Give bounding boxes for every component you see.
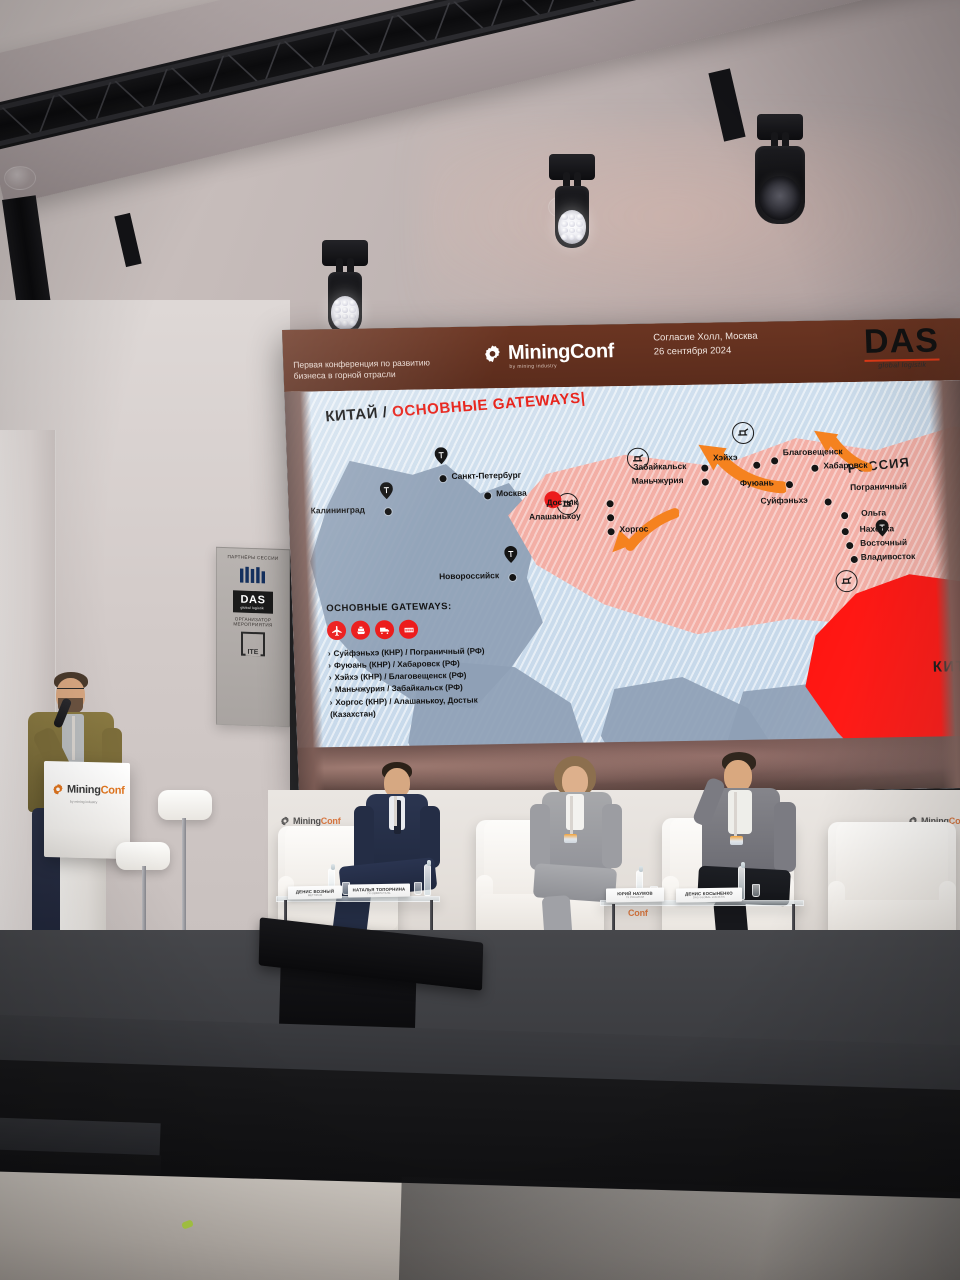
tshirt xyxy=(728,790,752,834)
das-logo-word: DAS xyxy=(240,593,265,606)
nameplate-role: ГК СЕВЕРСТАЛЬ xyxy=(368,891,391,894)
truck-icon xyxy=(375,620,395,639)
gear-icon xyxy=(483,344,503,363)
das-logo-word: DAS xyxy=(863,325,939,359)
port-pin-icon xyxy=(504,546,518,563)
drinking-glass xyxy=(414,882,422,895)
nameplate-role: ГК РОСАТОМ xyxy=(626,896,644,899)
light-yoke xyxy=(757,114,803,140)
city-label: Достык xyxy=(546,497,578,508)
port-pin-icon xyxy=(380,482,394,499)
city-dot xyxy=(509,574,516,581)
arm-left xyxy=(354,806,374,872)
city-dot xyxy=(851,556,858,563)
ship-icon xyxy=(351,620,371,639)
city-label: Забайкальск xyxy=(633,461,686,472)
das-logo-sub: global logistik xyxy=(240,605,265,610)
city-dot xyxy=(753,462,760,469)
gear-icon xyxy=(280,816,290,826)
city-label: Находка xyxy=(859,523,894,534)
led-array xyxy=(561,214,583,240)
city-dot xyxy=(439,475,446,482)
das-logo: DAS global logistik xyxy=(233,590,272,613)
venue-date: 26 сентября 2024 xyxy=(653,343,758,359)
water-bottle xyxy=(424,864,431,896)
city-label: Москва xyxy=(496,488,527,499)
conference-stage-photo: ПАРТНЁРЫ СЕССИИ DAS global logistik ОРГА… xyxy=(0,0,960,1280)
city-dot xyxy=(607,528,614,535)
light-yoke xyxy=(322,240,368,266)
port-pin-icon xyxy=(434,447,448,464)
city-label: Владивосток xyxy=(861,551,916,562)
slide-legend: ОСНОВНЫЕ GATEWAYS: xyxy=(326,599,580,721)
city-dot xyxy=(842,528,849,535)
city-dot xyxy=(385,508,392,515)
lanyard xyxy=(394,796,397,826)
badge xyxy=(564,834,577,843)
lanyard xyxy=(734,792,737,838)
nameplate: ДЕНИС КОСЫНЕНКО DAS GLOBAL LOGISTIK xyxy=(676,887,742,902)
city-label: Маньчжурия xyxy=(632,475,684,486)
nameplate-role: DAS GLOBAL LOGISTIK xyxy=(693,896,725,900)
truss-drop-plate xyxy=(708,68,745,141)
bar-stool-seat xyxy=(158,790,212,820)
city-dot xyxy=(811,465,818,472)
truss-drop-plate xyxy=(114,213,141,267)
badge xyxy=(730,836,743,845)
nameplate: ЮРИЙ НАУМОВ ГК РОСАТОМ xyxy=(606,887,664,902)
city-dot xyxy=(846,542,853,549)
city-dot xyxy=(484,492,491,499)
blouse xyxy=(566,794,584,830)
lanyard xyxy=(72,716,75,760)
slide-venue-info: Согласие Холл, Москва 26 сентября 2024 xyxy=(653,330,758,359)
slide-das-logo: DAS global logistik xyxy=(863,325,939,371)
ite-logo-icon xyxy=(241,632,265,657)
city-label: Калининград xyxy=(310,505,365,516)
slide: Первая конференция по развитию бизнеса в… xyxy=(282,318,960,800)
city-label: Ольга xyxy=(861,507,886,517)
marble-floor-shadow xyxy=(398,1177,960,1280)
podium: MiningConf by mining industry xyxy=(44,761,130,859)
nameplate: ДЕНИС ВОЗНЫЙ МЕТПРОМ xyxy=(288,886,342,900)
miningconf-logo: MiningConf xyxy=(483,340,615,365)
venue-place: Согласие Холл, Москва xyxy=(653,330,758,346)
city-dot xyxy=(825,498,832,505)
arm-right xyxy=(602,804,622,868)
city-label: Пограничный xyxy=(850,481,907,492)
lanyard xyxy=(570,796,573,836)
city-dot xyxy=(702,479,709,486)
led-presentation-screen: Первая конференция по развитию бизнеса в… xyxy=(282,318,960,800)
podium-logo-sub: by mining industry xyxy=(70,800,97,805)
city-label: Хабаровск xyxy=(823,460,867,471)
city-label: Алашанькоу xyxy=(529,511,581,522)
legend-mode-icons xyxy=(327,617,578,640)
city-dot xyxy=(701,465,708,472)
arm-left xyxy=(530,804,550,870)
eyeglasses-icon xyxy=(57,688,84,694)
city-label: Санкт-Петербург xyxy=(451,470,521,481)
city-dot xyxy=(771,457,778,464)
miningconf-logo-sub: by mining industry xyxy=(509,363,557,370)
city-label: Суйфэньхэ xyxy=(760,495,808,506)
light-head xyxy=(755,146,805,224)
container-icon xyxy=(399,620,419,639)
podium-logo-text: MiningConf xyxy=(67,784,125,797)
truss-beam-main xyxy=(0,0,960,157)
city-dot xyxy=(786,481,793,488)
city-dot xyxy=(607,514,614,521)
light-head xyxy=(555,186,589,248)
nameplate-role: МЕТПРОМ xyxy=(308,893,322,896)
podium-miningconf-logo: MiningConf xyxy=(52,783,125,797)
plane-icon xyxy=(327,621,347,640)
sponsor-board: ПАРТНЁРЫ СЕССИИ DAS global logistik ОРГА… xyxy=(216,547,290,728)
legend-route-list: Суйфэньхэ (КНР) / Пограничный (РФ) Фуюан… xyxy=(328,644,581,721)
gear-icon xyxy=(52,783,64,795)
armchair-backrest xyxy=(836,822,949,900)
city-dot xyxy=(841,512,848,519)
led-array xyxy=(334,300,356,326)
city-dot xyxy=(606,500,613,507)
sponsor-board-caption-bottom: ОРГАНИЗАТОР МЕРОПРИЯТИЯ xyxy=(221,616,285,630)
light-lens xyxy=(759,176,801,220)
sponsor-board-caption-top: ПАРТНЁРЫ СЕССИИ xyxy=(228,554,279,562)
city-label: Новороссийск xyxy=(439,570,499,581)
slide-header-bar xyxy=(282,318,960,392)
slide-map: РОССИЯ КИТАЙ xyxy=(284,380,960,800)
light-lens xyxy=(331,296,359,330)
miningconf-logo-text: MiningConf xyxy=(508,340,615,365)
light-yoke xyxy=(549,154,595,180)
metprom-logo-icon xyxy=(238,564,268,587)
rail-icon xyxy=(736,428,749,438)
light-lens xyxy=(558,210,586,244)
city-label: Хэйхэ xyxy=(713,452,738,462)
das-logo-tagline: global logistik xyxy=(865,362,940,370)
city-label: Восточный xyxy=(860,537,907,548)
drinking-glass xyxy=(752,884,760,897)
nameplate: НАТАЛЬЯ ТОПОРНИНА ГК СЕВЕРСТАЛЬ xyxy=(348,883,410,897)
light-head xyxy=(328,272,362,334)
rail-icon xyxy=(840,576,853,586)
city-label: Благовещенск xyxy=(783,446,843,457)
city-label: Фуюань xyxy=(740,477,774,488)
arm-right xyxy=(774,802,796,872)
city-label: Хоргос xyxy=(619,524,648,534)
slide-tagline: Первая конференция по развитию бизнеса в… xyxy=(293,357,444,381)
